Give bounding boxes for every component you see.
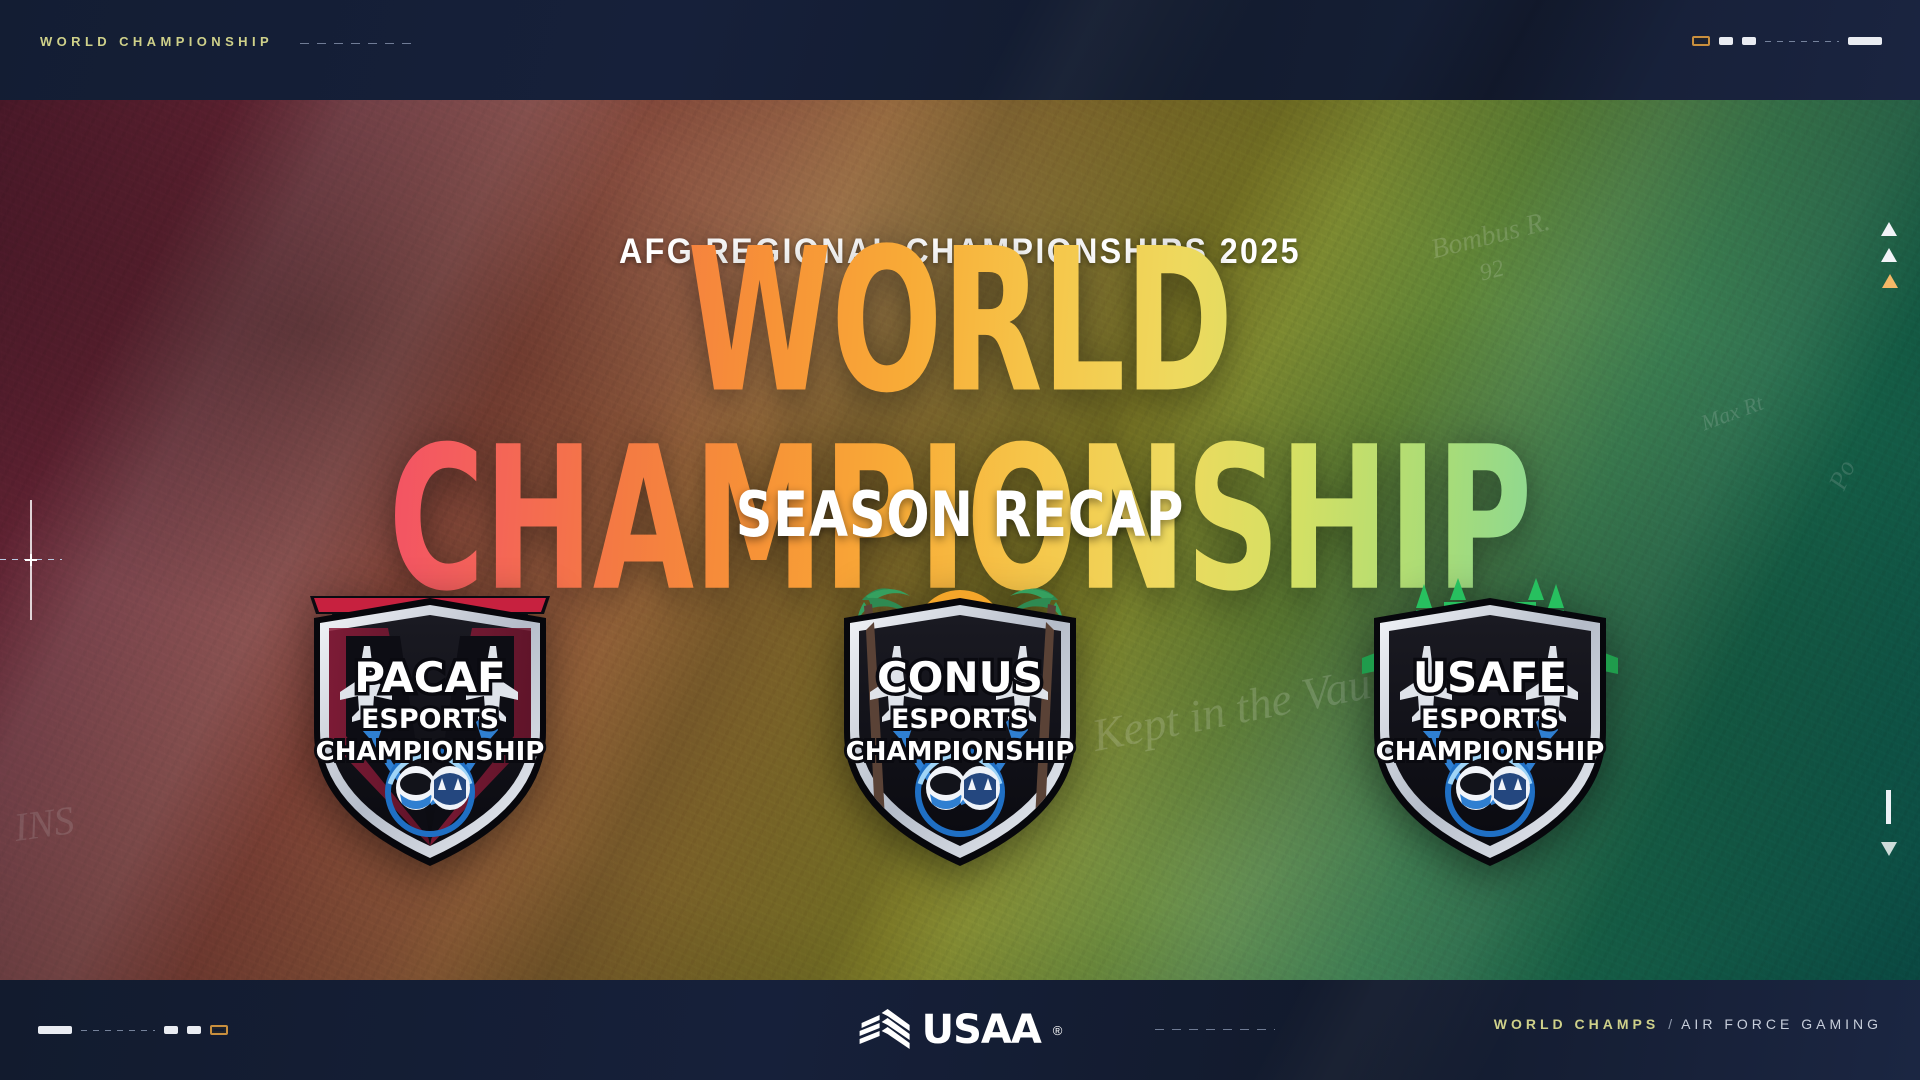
long-white-bar-icon: [1848, 37, 1882, 45]
header-dashed-divider: [300, 43, 418, 44]
badge-line2: ESPORTS: [361, 704, 499, 735]
presentation-slide: WORLD CHAMPIONSHIP Bombus R. 92 Kept in …: [0, 0, 1920, 1080]
white-bar-icon: [1719, 37, 1733, 45]
header-title: WORLD CHAMPIONSHIP: [40, 34, 273, 49]
outline-bar-icon: [1692, 36, 1710, 46]
pilot-helmet-icon: [960, 766, 1000, 810]
outline-bar-icon: [210, 1025, 228, 1035]
white-bar-icon: [187, 1026, 201, 1034]
badge-line2: ESPORTS: [891, 704, 1029, 735]
footer-tagline-secondary: AIR FORCE GAMING: [1681, 1016, 1882, 1032]
header-bar: WORLD CHAMPIONSHIP: [0, 0, 1920, 100]
footer-dashed-divider: [1155, 1029, 1275, 1030]
dashed-line-icon: [1765, 41, 1839, 42]
badge-line3: CHAMPIONSHIP: [846, 737, 1075, 767]
long-white-bar-icon: [38, 1026, 72, 1034]
badge-name: USAFE: [1413, 653, 1567, 702]
footer-tagline-separator: /: [1668, 1016, 1672, 1032]
badge-line3: CHAMPIONSHIP: [316, 737, 545, 767]
pilot-helmet-icon: [430, 766, 470, 810]
hud-triangle-down-outline: [1881, 842, 1898, 856]
registered-mark: ®: [1053, 1023, 1063, 1038]
badge-line2: ESPORTS: [1421, 704, 1559, 735]
footer-bar: USAA ® WORLD CHAMPS / AIR FORCE GAMING: [0, 980, 1920, 1080]
badge-usafe[interactable]: USAFE ESPORTS CHAMPIONSHIP: [1340, 540, 1640, 870]
usaa-wordmark: USAA: [922, 1010, 1041, 1050]
region-badge-row: PACAF ESPORTS CHAMPIONSHIP: [0, 540, 1920, 870]
hud-vertical-bar: [1886, 790, 1891, 824]
hud-crosshair-marker: [0, 500, 62, 620]
usaa-logo[interactable]: USAA ®: [858, 1009, 1063, 1051]
footer-indicator-group: [38, 1025, 228, 1035]
badge-pacaf[interactable]: PACAF ESPORTS CHAMPIONSHIP: [280, 540, 580, 870]
badge-conus[interactable]: CONUS ESPORTS CHAMPIONSHIP: [810, 540, 1110, 870]
badge-name: CONUS: [877, 653, 1043, 702]
dashed-line-icon: [81, 1030, 155, 1031]
footer-tagline: WORLD CHAMPS / AIR FORCE GAMING: [1494, 1016, 1882, 1032]
header-indicator-group: [1692, 36, 1882, 46]
footer-tagline-primary: WORLD CHAMPS: [1494, 1016, 1659, 1032]
hud-triangle-filled: [1882, 274, 1898, 288]
hud-triangle-outline-2: [1881, 248, 1898, 262]
white-bar-icon: [1742, 37, 1756, 45]
white-bar-icon: [164, 1026, 178, 1034]
badge-line3: CHAMPIONSHIP: [1376, 737, 1605, 767]
usaa-chevron-icon: [858, 1009, 912, 1051]
pilot-helmet-icon: [1490, 766, 1530, 810]
badge-name: PACAF: [354, 653, 505, 702]
hud-triangle-outline-1: [1881, 222, 1898, 236]
